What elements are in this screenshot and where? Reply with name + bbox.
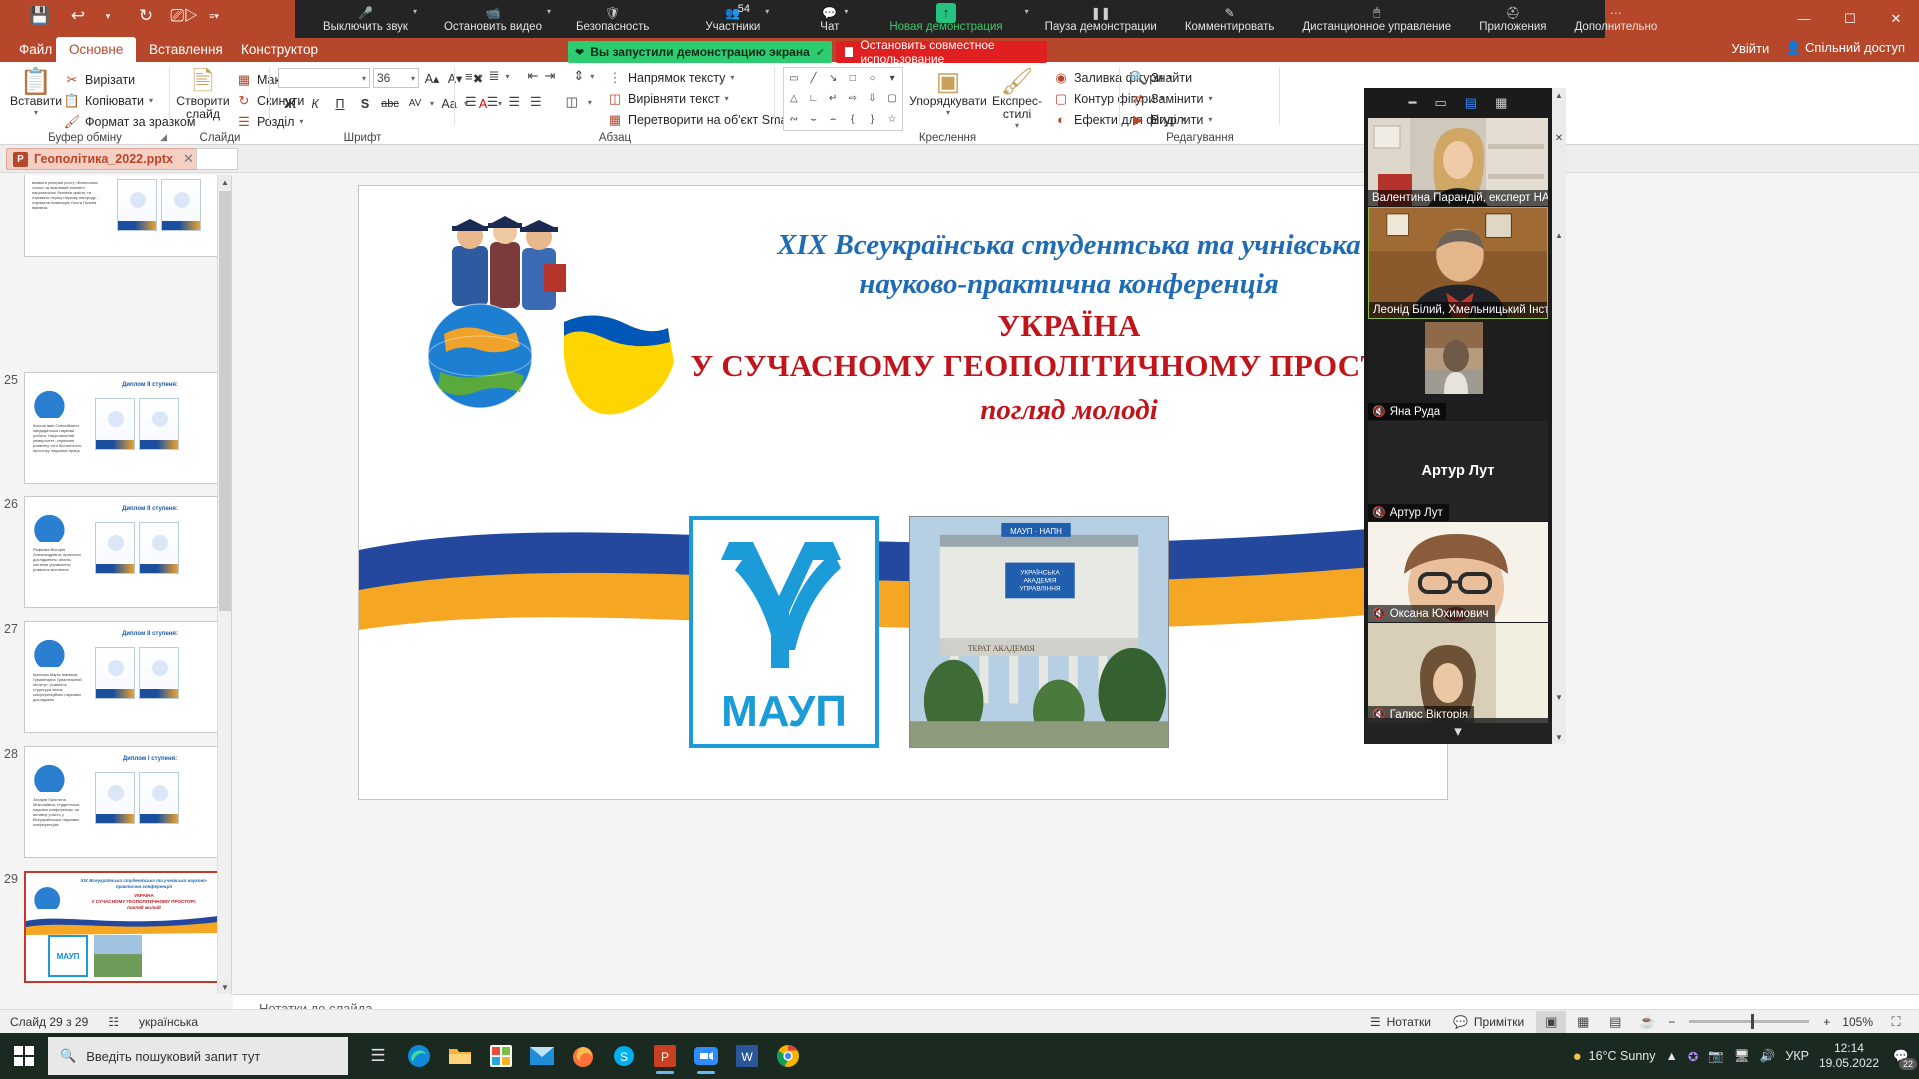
list-item[interactable]: виявити резерви росту «бізнесових точок»… [24,175,220,257]
screen-share-status-banner: ❤ Вы запустили демонстрацию экрана ✔ [568,41,832,63]
zoom-participants-button[interactable]: 👥 54 Участники ▾ [699,0,766,38]
participant-tile-active-speaker[interactable]: Леонід Білий, Хмельницький Інстит... [1368,207,1548,319]
firefox-icon[interactable] [567,1037,599,1075]
justify-icon[interactable]: ☰ [530,94,542,110]
zoom-more-button[interactable]: ⋯ Дополнительно [1569,0,1664,38]
chevron-down-icon[interactable]: ▾ [413,7,417,16]
slide-counter[interactable]: Слайд 29 з 29 [0,1010,98,1034]
copy-icon: 📋 [64,93,80,109]
numbering-icon[interactable]: ≣ [489,68,500,84]
muted-microphone-icon: 🔇 [1372,607,1386,620]
svg-text:МАУП · НАПН: МАУП · НАПН [1010,527,1062,536]
new-slide-button[interactable]: 🖹 Створити слайд [172,67,234,121]
comments-button[interactable]: 💬 Примітки [1443,1010,1534,1034]
undo-caret-icon[interactable]: ▾ [96,4,120,28]
notification-center-button[interactable]: 💬 22 [1889,1044,1913,1068]
zoom-mute-button[interactable]: 🎤 Выключить звук ▾ [317,0,414,38]
network-icon[interactable]: 🖥 [1734,1049,1750,1064]
list-item[interactable]: Диплом ІІ ступеня: Крилова Марія Іванівн… [24,621,220,733]
share-indicator-icon: ❤ [575,46,584,59]
group-title-editing: Редагування [1120,132,1280,144]
slideshow-button[interactable]: ☕ [1632,1011,1662,1033]
tab-home[interactable]: Основне [56,37,136,62]
maup-logo: МАУП [689,516,879,748]
shape-effects-icon: ◐ [1053,112,1069,128]
edge-icon[interactable] [403,1037,435,1075]
ribbon-group-paragraph: ≡▾ ≣▾ ⇤ ⇥ ⇕▾ ☰ ☰ ☰ ☰ ◫▾ ⋮ Напрямок текст… [455,62,775,145]
building-photo: МАУП · НАПН УКРАЇНСЬКА АКАДЕМІЯ УПРАВЛІН… [909,516,1169,748]
quick-access-toolbar: 💾 ↩ ▾ ↻ ⎚▷ ≡▾ [28,4,226,28]
text-direction-icon: ⋮ [607,70,623,86]
slide-canvas[interactable]: ХІХ Всеукраїнська студентська та учнівсь… [358,185,1448,800]
maximize-icon[interactable]: ▭ [1434,95,1446,111]
search-icon: 🔍 [60,1048,76,1064]
replace-button[interactable]: ⇄ Замінити▾ [1130,89,1212,108]
shape-brace-left-icon[interactable]: { [843,109,863,130]
thumbnail-number: 27 [4,622,18,636]
ribbon-group-editing: 🔍 Знайти ⇄ Замінити▾ ▶ Виділити▾ Редагув… [1120,62,1280,145]
thumbnail-number: 29 [4,872,18,886]
scroll-thumb-down[interactable]: ▼ [1552,690,1566,704]
align-text-button[interactable]: ◫ Вирівняти текст▾ [607,89,729,108]
document-tab-strip: P Геополітика_2022.pptx ✕ [0,145,1919,173]
slide-thumbnail-pane[interactable]: виявити резерви росту «бізнесових точок»… [0,175,232,994]
ribbon-group-font: ▾ 36▾ A▴ A▾ ✖ Ж К П S abc AV ▾ Aa ▾ A ▾ [270,62,455,145]
arrange-button[interactable]: ▣ Упорядкувати ▾ [910,67,986,117]
shape-scribble-icon[interactable]: ∾ [784,109,804,130]
store-icon[interactable] [485,1037,517,1075]
chevron-down-icon[interactable]: ▾ [765,7,769,16]
svg-text:УПРАВЛІННЯ: УПРАВЛІННЯ [1019,585,1060,592]
section-icon: ☰ [236,114,252,130]
reading-view-button[interactable]: ▤ [1600,1011,1630,1033]
shape-elbow-icon[interactable]: ∟ [804,89,824,110]
slide-heading: УКРАЇНА У СУЧАСНОМУ ГЕОПОЛІТИЧНОМУ ПРОСТ… [659,306,1448,386]
comment-icon: 💬 [1453,1015,1468,1029]
zoom-in-button[interactable]: + [1819,1015,1834,1029]
zoom-slider[interactable] [1689,1020,1809,1023]
language-indicator[interactable]: українська [129,1010,208,1034]
participant-tile[interactable]: 🔇 Яна Руда [1368,320,1548,420]
font-size-input[interactable]: 36▾ [373,68,419,88]
group-title-paragraph: Абзац [455,132,775,144]
status-bar-right: ☰ Нотатки 💬 Примітки ▣ ▦ ▤ ☕ − + 105% ⛶ [1360,1010,1911,1034]
ribbon-group-drawing: ▭ ╱ ↘ □ ○ ▾ △ ∟ ↵ ⇨ ⇩ ▢ ∾ ⌣ ⌢ { } ☆ ▣ [775,62,1120,145]
chat-icon: 💬 [822,4,837,21]
muted-microphone-icon: 🔇 [1372,506,1386,519]
quick-styles-button[interactable]: 🖌 Експрес-стилі ▾ [987,67,1047,130]
camera-icon: 📹 [485,4,500,21]
quick-styles-icon: 🖌 [1000,67,1033,95]
close-icon[interactable]: ✕ [183,151,194,167]
stop-square-icon [845,47,853,57]
shape-rounded-icon[interactable]: ▢ [882,89,902,110]
layout-icon: ▦ [236,72,252,88]
taskbar-pinned-apps: ☰ S P W [362,1037,804,1075]
align-text-icon: ◫ [607,91,623,107]
slide-sorter-button[interactable]: ▦ [1568,1011,1598,1033]
select-button[interactable]: ▶ Виділити▾ [1130,110,1212,129]
participant-name: Валентина Парандій, експерт НАЗ... [1368,190,1548,206]
zoom-chat-button[interactable]: 💬 Чат ▾ [814,0,845,38]
list-item[interactable]: Диплом І ступеня: Захарів Христина Микол… [24,746,220,858]
zoom-security-button[interactable]: 🛡 Безопасность [570,0,655,38]
close-button[interactable]: ✕ [1873,0,1919,37]
participant-tile[interactable]: Артур Лут 🔇 Артур Лут [1368,421,1548,521]
list-item-current[interactable]: ХІХ Всеукраїнська студентська та учнівсь… [24,871,220,983]
participant-name: 🔇 Яна Руда [1368,403,1446,420]
scroll-up-icon[interactable]: ▲ [1552,88,1566,102]
thumbnail-number: 28 [4,747,18,761]
status-bar: Слайд 29 з 29 ☷ українська ☰ Нотатки 💬 П… [0,1009,1919,1033]
new-slide-icon: 🖹 [193,67,214,95]
align-right-icon[interactable]: ☰ [508,94,520,110]
notes-button[interactable]: ☰ Нотатки [1360,1010,1441,1034]
window-controls: — ☐ ✕ [1781,0,1919,37]
document-tab-label: Геополітика_2022.pptx [34,152,173,166]
svg-text:УКРАЇНСЬКА: УКРАЇНСЬКА [1020,569,1060,577]
replace-icon: ⇄ [1130,91,1146,107]
gallery-view-icon[interactable]: ▦ [1495,95,1507,111]
strikethrough-button[interactable]: abc [380,94,400,113]
italic-button[interactable]: К [305,94,325,113]
tab-insert[interactable]: Вставлення [136,37,236,62]
svg-text:ТЕРАТ АКАДЕМІЯ: ТЕРАТ АКАДЕМІЯ [968,644,1036,653]
pause-icon: ❚❚ [1091,4,1111,21]
system-tray: ● 16°C Sunny ▲ ✪ 📷 🖥 🔊 УКР 12:14 19.05.2… [1573,1033,1919,1079]
participant-name: 🔇 Оксана Юхимович [1368,605,1495,622]
shape-square-icon[interactable]: □ [843,68,863,89]
restore-button[interactable]: ☐ [1827,0,1873,37]
stop-share-button[interactable]: Остановить совместное использование [836,41,1047,63]
clipboard-dialog-launcher[interactable]: ◢ [160,132,167,143]
zoom-apps-button[interactable]: ⛑ Приложения [1473,0,1552,38]
group-title-font: Шрифт [270,132,455,144]
notification-count: 22 [1899,1058,1917,1070]
increase-font-size-button[interactable]: A▴ [422,69,442,88]
zoom-share-screen-button[interactable]: ↑ Новая демонстрация ▾ [883,0,1008,38]
thumbnail-scrollbar[interactable]: ▲ ▼ [217,175,231,994]
skype-icon[interactable]: S [608,1037,640,1075]
zoom-video-button[interactable]: 📹 Остановить видео ▾ [438,0,548,38]
thumbnail-number: 26 [4,497,18,511]
speaker-view-icon[interactable]: ▤ [1465,95,1477,111]
find-button[interactable]: 🔍 Знайти [1130,68,1192,87]
onedrive-icon[interactable]: ✪ [1688,1049,1698,1064]
scroll-down-chevron-icon[interactable]: ▾ [1364,718,1552,744]
participant-tile[interactable]: Валентина Парандій, експерт НАЗ... [1368,118,1548,206]
customize-qat-icon[interactable]: ≡▾ [202,4,226,28]
slide-editor[interactable]: ХІХ Всеукраїнська студентська та учнівсь… [233,175,1919,994]
shape-line-icon[interactable]: ╱ [804,68,824,89]
shield-icon: 🛡 [605,4,620,21]
word-icon[interactable]: W [731,1037,763,1075]
shape-more-icon[interactable]: ▾ [882,68,902,89]
minimize-icon[interactable]: ━ [1409,95,1417,111]
powerpoint-window: 💾 ↩ ▾ ↻ ⎚▷ ≡▾ — ☐ ✕ Файл Основне Вставле… [0,0,1919,1079]
fit-slide-button[interactable]: ⛶ [1881,1011,1911,1033]
weather-widget[interactable]: ● 16°C Sunny [1573,1048,1656,1065]
svg-text:P: P [661,1050,669,1064]
text-direction-button[interactable]: ⋮ Напрямок тексту▾ [607,68,734,87]
participant-tile[interactable]: 🔇 Оксана Юхимович [1368,522,1548,622]
shape-outline-icon: ▢ [1053,91,1069,107]
shape-arc-icon[interactable]: ⌢ [823,109,843,130]
zoom-level-label[interactable]: 105% [1836,1015,1879,1029]
windows-taskbar: 🔍 Введіть пошуковий запит тут ☰ S P W ● … [0,1033,1919,1079]
decrease-indent-icon[interactable]: ⇤ [528,68,539,84]
increase-indent-icon[interactable]: ⇥ [544,68,555,84]
spellcheck-icon[interactable]: ☷ [98,1010,129,1034]
save-icon[interactable]: 💾 [28,4,52,28]
shield-check-icon: ✔ [816,46,825,59]
shadow-button[interactable]: S [355,94,375,113]
paintbrush-icon: 🖌 [64,114,80,130]
shapes-gallery[interactable]: ▭ ╱ ↘ □ ○ ▾ △ ∟ ↵ ⇨ ⇩ ▢ ∾ ⌣ ⌢ { } ☆ [783,67,903,131]
search-placeholder: Введіть пошуковий запит тут [86,1049,260,1064]
normal-view-button[interactable]: ▣ [1536,1011,1566,1033]
clock[interactable]: 12:14 19.05.2022 [1819,1041,1879,1071]
sun-icon: ● [1573,1048,1582,1065]
powerpoint-file-icon: P [13,152,28,167]
zoom-meeting-toolbar: 🎤 Выключить звук ▾ 📹 Остановить видео ▾ … [295,0,1605,38]
document-tab[interactable]: P Геополітика_2022.pptx ✕ [6,148,201,170]
search-input[interactable]: 🔍 Введіть пошуковий запит тут [48,1037,348,1075]
show-hidden-icons-icon[interactable]: ▲ [1665,1049,1677,1063]
search-icon: 🔍 [1130,70,1146,86]
columns-icon[interactable]: ◫ [566,94,578,110]
group-title-slides: Слайди [170,132,270,144]
svg-text:МАУП: МАУП [721,687,847,736]
zoom-icon[interactable] [690,1037,722,1075]
close-icon[interactable]: ✕ [1552,130,1566,146]
undo-icon[interactable]: ↩ [66,4,90,28]
copy-button[interactable]: 📋 Копіювати ▾ [64,91,153,110]
slide-title-line1: ХІХ Всеукраїнська студентська та учнівсь… [689,226,1448,304]
list-item[interactable]: Диплом ІІ ступеня: Рафєєва Вікторія Олек… [24,496,220,608]
thumbnail-number: 25 [4,373,18,387]
underline-button[interactable]: П [330,94,350,113]
tab-design[interactable]: Конструктор [228,37,331,62]
shape-down-arrow-icon[interactable]: ⇩ [863,89,883,110]
shape-star-icon[interactable]: ☆ [882,109,902,130]
notes-icon: ☰ [1370,1015,1381,1029]
shape-triangle-icon[interactable]: △ [784,89,804,110]
zoom-panel-header: ━ ▭ ▤ ▦ [1364,88,1552,118]
ribbon-group-slides: 🖹 Створити слайд ▦ Макет▾ ↻ Скинути ☰ Ро… [170,62,270,145]
wave-decoration [26,913,218,935]
chevron-down-icon[interactable]: ▾ [844,7,848,16]
language-indicator[interactable]: УКР [1785,1049,1809,1063]
mouse-icon: 🖱 [1373,4,1380,21]
scroll-up-icon[interactable]: ▲ [218,175,232,189]
muted-microphone-icon: 🔇 [1372,405,1386,418]
panel-scrollbar[interactable]: ▲ ▲ ▼ ▼ [1552,88,1566,744]
minimize-button[interactable]: — [1781,0,1827,37]
ribbon: 📋 Вставити ▾ ✂ Вирізати 📋 Копіювати ▾ 🖌 … [0,62,1919,145]
screen-share-tray-icon[interactable]: 📷 [1708,1049,1724,1064]
zoom-remote-control-button[interactable]: 🖱 Дистанционное управление [1296,0,1457,38]
zoom-handle[interactable] [1751,1014,1754,1029]
group-title-clipboard: Буфер обміну [0,132,170,144]
scroll-thumb[interactable] [219,191,231,611]
scissors-icon: ✂ [64,72,80,88]
shape-right-arrow-icon[interactable]: ⇨ [843,89,863,110]
font-name-input[interactable]: ▾ [278,68,370,88]
more-icon: ⋯ [1610,4,1622,21]
chevron-down-icon[interactable]: ▾ [1025,7,1029,16]
chevron-down-icon[interactable]: ▾ [547,7,551,16]
line-spacing-icon[interactable]: ⇕ [573,68,584,84]
account-area: Увійти 👤 Спільний доступ [1731,40,1905,56]
svg-text:АКАДЕМІЯ: АКАДЕМІЯ [1023,577,1056,584]
align-left-icon[interactable]: ☰ [465,94,477,110]
shape-curve-icon[interactable]: ⌣ [804,109,824,130]
list-item[interactable]: Диплом ІІ ступеня: Кізілов Іван Олексійо… [24,372,220,484]
chrome-icon[interactable] [772,1037,804,1075]
powerpoint-icon[interactable]: P [649,1037,681,1075]
paste-button[interactable]: 📋 Вставити ▾ [5,67,67,117]
reset-icon: ↻ [236,93,252,109]
signin-link[interactable]: Увійти [1731,41,1769,56]
file-explorer-icon[interactable] [444,1037,476,1075]
participant-name: Леонід Білий, Хмельницький Інстит... [1369,302,1547,318]
shape-connector-icon[interactable]: ↵ [823,89,843,110]
microphone-icon: 🎤 [358,4,373,21]
shape-arrow-icon[interactable]: ↘ [823,68,843,89]
ribbon-group-clipboard: 📋 Вставити ▾ ✂ Вирізати 📋 Копіювати ▾ 🖌 … [0,62,170,145]
arrange-icon: ▣ [936,67,961,95]
task-view-icon[interactable]: ☰ [362,1037,394,1075]
shape-fill-icon: ◉ [1053,70,1069,86]
group-title-drawing: Креслення [775,132,1120,144]
zoom-participants-panel[interactable]: ━ ▭ ▤ ▦ Валентина Парандій, експерт НАЗ.… [1364,88,1552,744]
shape-rect-icon[interactable]: ▭ [784,68,804,89]
align-center-icon[interactable]: ☰ [487,94,499,110]
bullets-icon[interactable]: ≡ [465,69,473,84]
pencil-icon: ✎ [1225,4,1235,21]
mail-icon[interactable] [526,1037,558,1075]
slide-subtitle: погляд молоді [689,394,1448,427]
apps-icon: ⛑ [1505,4,1520,21]
character-spacing-button[interactable]: AV [405,94,425,113]
wave-decoration [359,504,1447,634]
start-button[interactable] [0,1033,48,1079]
shape-circle-icon[interactable]: ○ [863,68,883,89]
start-slideshow-icon[interactable]: ⎚▷ [172,4,196,28]
paste-icon: 📋 [20,67,52,95]
participants-count: 54 [738,3,750,15]
cut-button[interactable]: ✂ Вирізати [64,70,135,89]
svg-text:W: W [741,1050,753,1064]
scroll-down-icon[interactable]: ▼ [1552,730,1566,744]
share-button[interactable]: 👤 Спільний доступ [1785,40,1905,56]
svg-text:S: S [620,1050,628,1064]
share-screen-icon: ↑ [936,4,956,21]
smartart-icon: ▦ [607,112,623,128]
shape-brace-right-icon[interactable]: } [863,109,883,130]
participant-tile[interactable]: 🔇 Галюс Вікторія [1368,623,1548,723]
zoom-annotate-button[interactable]: ✎ Комментировать [1179,0,1281,38]
scroll-thumb-up[interactable]: ▲ [1552,228,1566,242]
cursor-icon: ▶ [1130,112,1146,128]
bold-button[interactable]: Ж [280,94,300,113]
volume-icon[interactable]: 🔊 [1760,1049,1776,1064]
new-tab-button[interactable] [196,148,238,170]
zoom-out-button[interactable]: − [1664,1015,1679,1029]
zoom-pause-share-button[interactable]: ❚❚ Пауза демонстрации [1039,0,1163,38]
graduates-globe-map-graphic [394,204,679,419]
redo-icon[interactable]: ↻ [134,4,158,28]
scroll-down-icon[interactable]: ▼ [218,980,232,994]
participant-name: 🔇 Артур Лут [1368,504,1449,521]
